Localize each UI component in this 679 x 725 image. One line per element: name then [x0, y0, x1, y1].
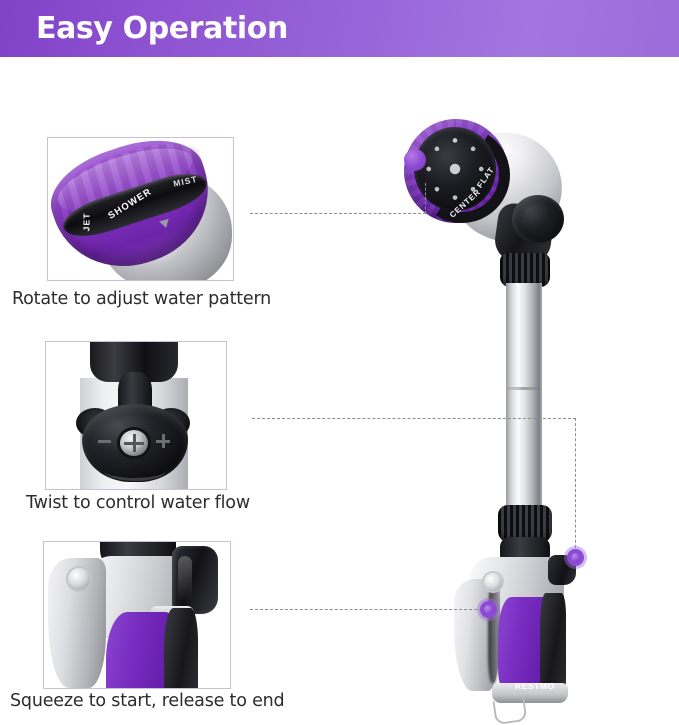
connector-line-spray-pattern-vertical	[425, 183, 426, 214]
connector-dot-inner	[484, 605, 493, 614]
handle-rubber-backing	[540, 593, 566, 693]
brand-logo: RESTMO	[504, 681, 566, 691]
feature-caption-trigger: Squeeze to start, release to end	[10, 691, 284, 711]
connector-line-spray-pattern-horizontal	[250, 213, 426, 214]
connector-line-trigger-horizontal	[250, 609, 492, 610]
connector-line-water-flow-vertical	[575, 418, 576, 558]
connector-dot-inner	[571, 553, 580, 562]
swivel-knob	[512, 195, 564, 243]
page-header: Easy Operation	[0, 0, 679, 57]
pole-collar-top	[500, 253, 550, 287]
page-title: Easy Operation	[36, 10, 288, 45]
content-area: JET SHOWER MIST Rotate to adjust water p…	[0, 57, 679, 675]
pole-seam	[506, 387, 542, 390]
trigger-pivot-pin	[484, 573, 502, 591]
product-photo: CENTER FLAT RESTMO	[0, 57, 679, 675]
hose-clip-icon	[492, 697, 527, 725]
connector-dot-trigger	[480, 601, 497, 618]
spray-head-nozzle-holes	[414, 127, 496, 211]
spray-head-purple-nub	[404, 149, 426, 171]
connector-line-water-flow-horizontal	[252, 418, 576, 419]
telescoping-pole	[506, 283, 542, 513]
connector-dot-water-flow	[567, 549, 584, 566]
